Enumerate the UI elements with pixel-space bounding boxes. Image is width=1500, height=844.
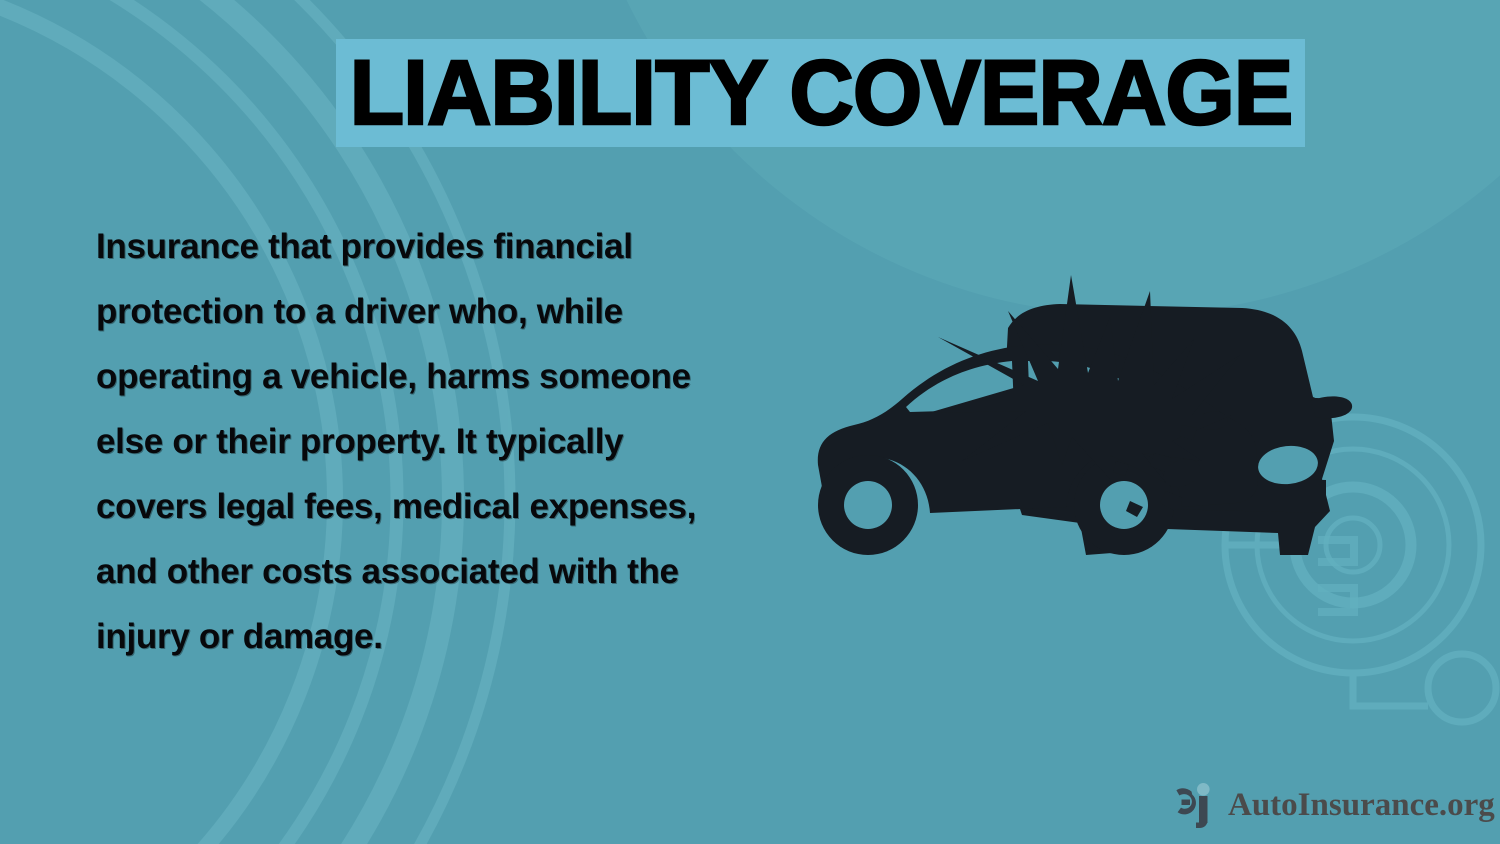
page-title: LIABILITY COVERAGE — [349, 47, 1292, 139]
car-crash-illustration — [810, 265, 1500, 635]
definition-paragraph: Insurance that provides financial protec… — [96, 214, 796, 669]
title-band: LIABILITY COVERAGE — [336, 39, 1305, 147]
ai-monogram-icon — [1174, 782, 1216, 828]
body-line: Insurance that provides financial — [96, 214, 796, 279]
body-line: and other costs associated with the — [96, 539, 796, 604]
body-line: injury or damage. — [96, 604, 796, 669]
site-logo-text: AutoInsurance.org — [1228, 789, 1495, 822]
site-logo[interactable]: AutoInsurance.org — [1174, 782, 1495, 828]
body-line: operating a vehicle, harms someone — [96, 344, 796, 409]
body-line: else or their property. It typically — [96, 409, 796, 474]
body-line: covers legal fees, medical expenses, — [96, 474, 796, 539]
body-line: protection to a driver who, while — [96, 279, 796, 344]
poster-canvas: LIABILITY COVERAGE Insurance that provid… — [0, 0, 1500, 844]
